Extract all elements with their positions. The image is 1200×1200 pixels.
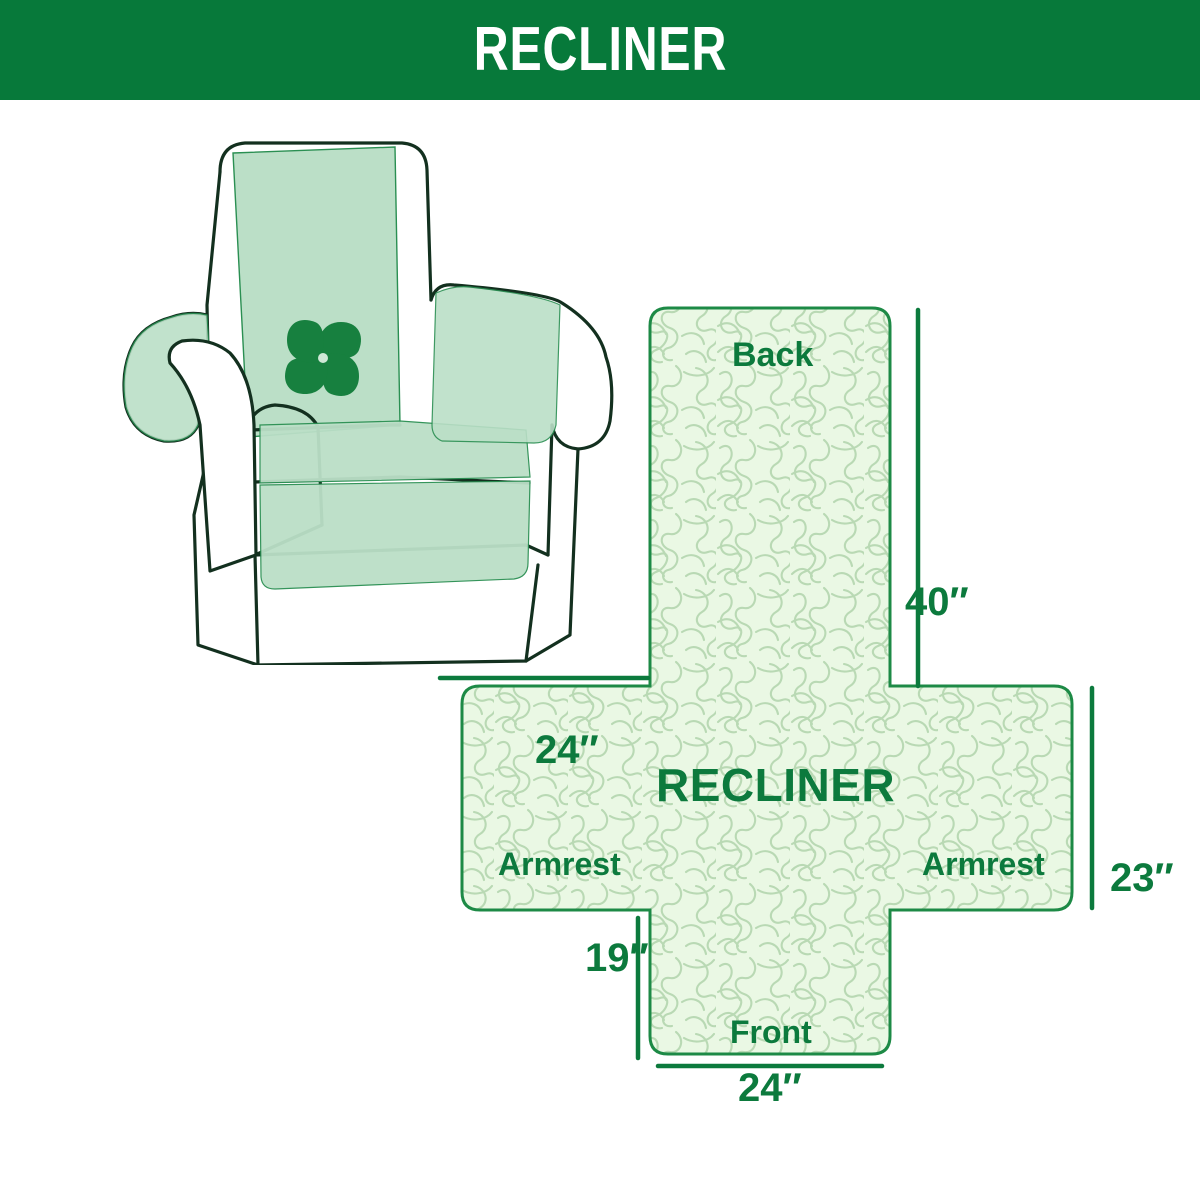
header-banner: RECLINER (0, 0, 1200, 100)
panel-label-armrest-left: Armrest (498, 848, 621, 880)
dimension-label-armrest-width: 24″ (535, 730, 599, 770)
panel-label-recliner: RECLINER (656, 762, 895, 808)
panel-label-armrest-right: Armrest (922, 848, 1045, 880)
dimension-label-front-height: 19″ (585, 938, 649, 978)
chair-front-left-arm (169, 340, 256, 571)
panel-label-back: Back (732, 338, 813, 372)
chair-back-cover (233, 147, 400, 437)
cross-panel-shape (462, 308, 1072, 1054)
dimension-label-back-height: 40″ (905, 582, 969, 622)
dimension-label-center-height: 23″ (1110, 858, 1174, 898)
page-title: RECLINER (473, 19, 726, 81)
panel-label-front: Front (730, 1016, 812, 1048)
pattern-diagram: Back RECLINER Armrest Armrest Front 40″ … (420, 290, 1200, 1120)
pinwheel-fan-logo (285, 320, 361, 396)
dimension-label-front-width: 24″ (738, 1068, 802, 1108)
diagram-stage: Back RECLINER Armrest Armrest Front 40″ … (0, 100, 1200, 1200)
